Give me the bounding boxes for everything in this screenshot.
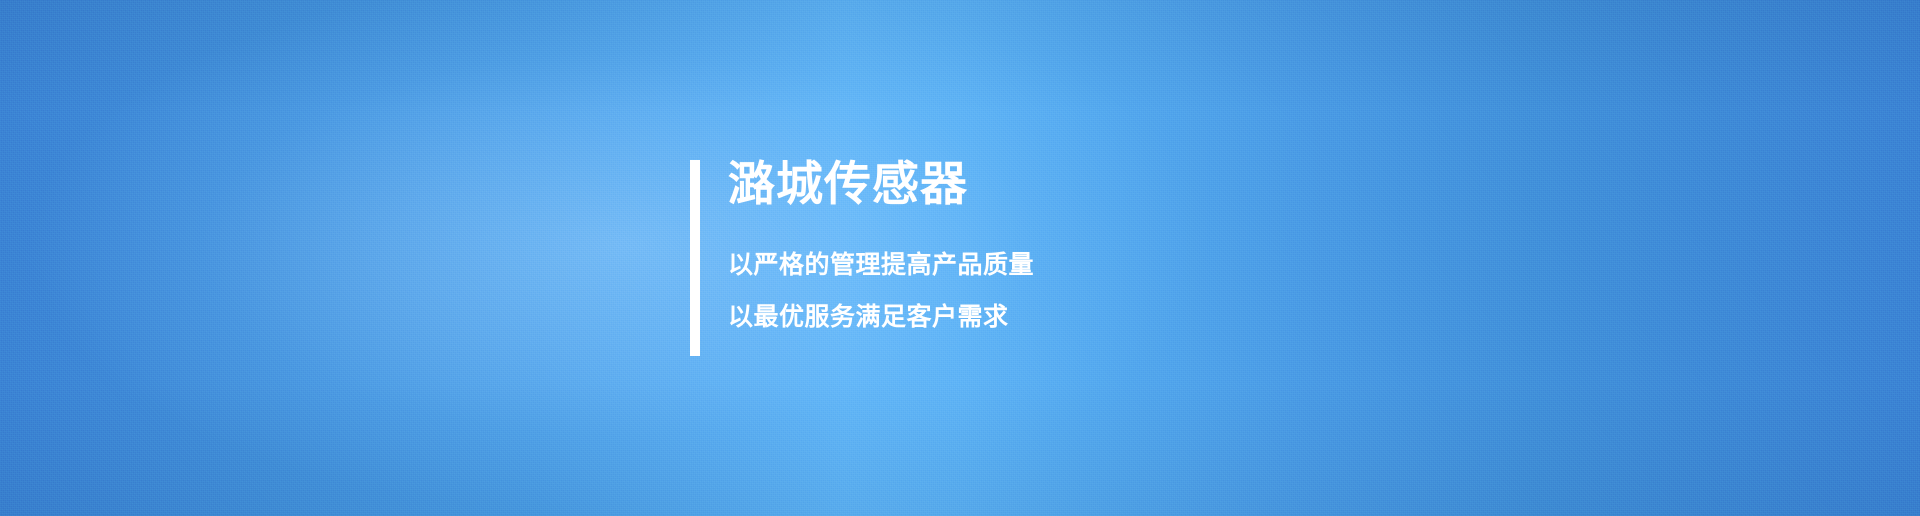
banner-subtitle-line-1: 以严格的管理提高产品质量	[728, 253, 1034, 278]
hero-banner: 潞城传感器 以严格的管理提高产品质量 以最优服务满足客户需求	[0, 0, 1920, 516]
banner-content: 潞城传感器 以严格的管理提高产品质量 以最优服务满足客户需求	[690, 160, 1034, 356]
banner-subtitle-line-2: 以最优服务满足客户需求	[728, 305, 1034, 330]
vertical-accent-bar-icon	[690, 160, 700, 356]
banner-text-column: 潞城传感器 以严格的管理提高产品质量 以最优服务满足客户需求	[728, 160, 1034, 356]
banner-headline: 潞城传感器	[728, 160, 1034, 207]
